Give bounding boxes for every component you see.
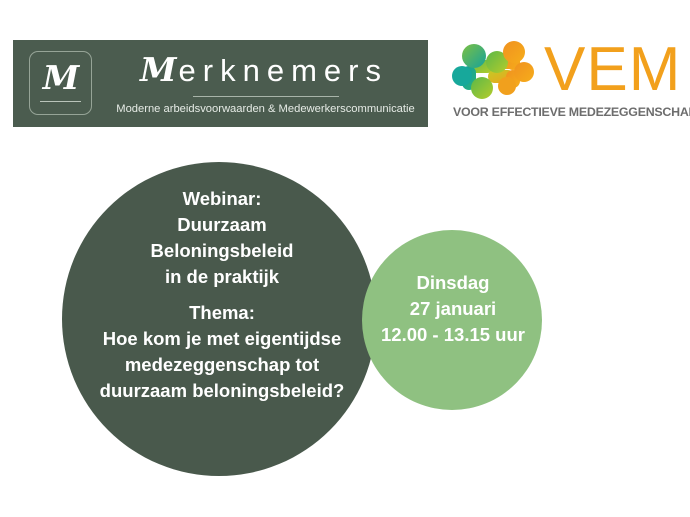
session-line: Dinsdag (363, 270, 543, 296)
theme-line: medezeggenschap tot (66, 352, 378, 378)
theme-line: Thema: (66, 300, 378, 326)
webinar-text-block: Webinar: Duurzaam Beloningsbeleid in de … (66, 186, 378, 404)
header-logo-bar: M Merknemers Moderne arbeidsvoorwaarden … (0, 0, 690, 140)
paragraph-spacer (66, 290, 378, 300)
merknemers-monogram-mark: M (29, 51, 92, 115)
molecule-icon (452, 40, 538, 102)
merknemers-tagline-divider (193, 96, 339, 97)
webinar-line: in de praktijk (66, 264, 378, 290)
merknemers-wordmark: Merknemers (109, 50, 419, 91)
theme-line: duurzaam beloningsbeleid? (66, 378, 378, 404)
session-line: 12.00 - 13.15 uur (363, 322, 543, 348)
vem-tagline: VOOR EFFECTIEVE MEDEZEGGENSCHAP (453, 105, 689, 119)
merknemers-wordmark-rest: erknemers (179, 53, 388, 88)
merknemers-monogram-rule (40, 101, 81, 102)
vem-wordmark: VEM (544, 34, 681, 106)
webinar-line: Beloningsbeleid (66, 238, 378, 264)
merknemers-logo-banner: M Merknemers Moderne arbeidsvoorwaarden … (13, 40, 428, 127)
webinar-line: Webinar: (66, 186, 378, 212)
merknemers-tagline: Moderne arbeidsvoorwaarden & Medewerkers… (103, 100, 428, 118)
vem-logo: VEM VOOR EFFECTIEVE MEDEZEGGENSCHAP (452, 36, 688, 132)
merknemers-wordmark-initial: M (140, 50, 179, 89)
session-text-block: Dinsdag 27 januari 12.00 - 13.15 uur (363, 270, 543, 348)
theme-line: Hoe kom je met eigentijdse (66, 326, 378, 352)
session-line: 27 januari (363, 296, 543, 322)
merknemers-monogram-letter: M (30, 58, 91, 98)
webinar-line: Duurzaam (66, 212, 378, 238)
